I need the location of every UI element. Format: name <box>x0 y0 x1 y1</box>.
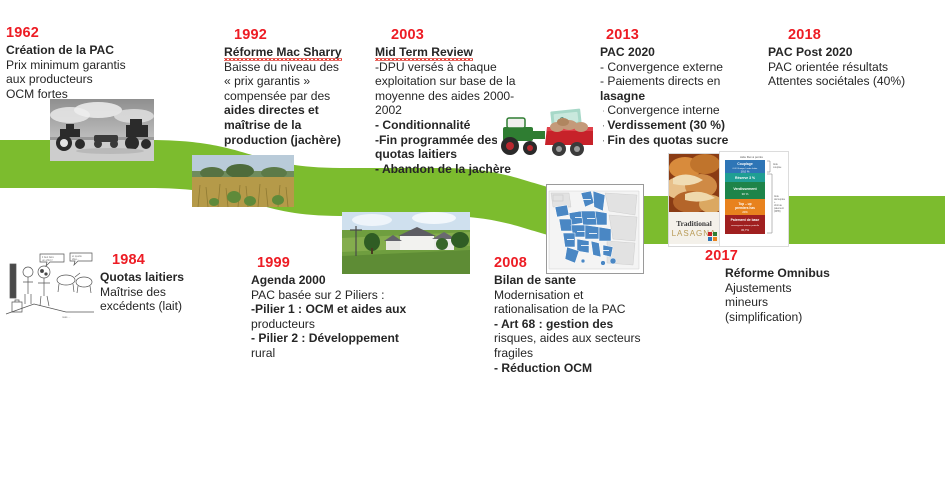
event-text-1999: Agenda 2000 PAC basée sur 2 Piliers : -P… <box>251 273 416 361</box>
event-block-2018: 2018 PAC Post 2020 PAC orientée résultat… <box>768 27 928 89</box>
event-line: Prix minimum garantis <box>6 58 156 73</box>
event-line: compensée par des <box>224 89 374 104</box>
event-line: PAC basée sur 2 Piliers : <box>251 288 416 303</box>
event-line: exploitation sur base de la <box>375 74 540 89</box>
event-line: Ajustements <box>725 281 855 296</box>
event-line: -DPU versés à chaque <box>375 60 540 75</box>
event-line: risques, aides aux secteurs <box>494 331 644 346</box>
event-heading-1992: Réforme Mac Sharry <box>224 45 374 60</box>
event-line: - Pilier 2 : Développement <box>251 331 416 346</box>
svg-text:Aide filet à points: Aide filet à points <box>740 155 763 159</box>
event-line: (simplification) <box>725 310 855 325</box>
event-text-2008: Bilan de sante Modernisation et rational… <box>494 273 644 375</box>
svg-text:30 %: 30 % <box>742 192 749 196</box>
direct-payments-lasagne-diagram: Aide filet à points Couplage 0-8 / Europ… <box>719 151 789 247</box>
event-line: rural <box>251 346 416 361</box>
event-line: producteurs <box>251 317 416 332</box>
event-line: Baisse du niveau des <box>224 60 374 75</box>
event-line: - Abandon de la jachère <box>375 162 540 177</box>
event-line: fragiles <box>494 346 644 361</box>
lasagna-box-title: Traditional <box>676 219 712 228</box>
event-line: mineurs <box>725 295 855 310</box>
countryside-farm-photo <box>342 212 470 274</box>
event-line: Modernisation et <box>494 288 644 303</box>
fallow-field-photo <box>192 155 294 207</box>
event-text-1984: Quotas laitiers Maîtrise des excédents (… <box>100 270 250 314</box>
event-text-2017: Réforme Omnibus Ajustements mineurs (sim… <box>705 266 855 324</box>
event-heading-2018: PAC Post 2020 <box>768 45 928 60</box>
vintage-tractors-photo <box>50 99 154 161</box>
event-year-2003: 2003 <box>375 27 540 44</box>
svg-text:couplée: couplée <box>773 166 782 169</box>
event-line: - Fin des quotas sucre <box>600 133 750 148</box>
event-heading-1984: Quotas laitiers <box>100 270 250 285</box>
svg-text:idée...: idée... <box>72 257 79 261</box>
event-year-2017: 2017 <box>705 248 855 265</box>
svg-text:Paiement de base: Paiement de base <box>731 218 760 222</box>
event-year-1984: 1984 <box>100 252 250 269</box>
tractor-money-trailer-photo: € <box>497 107 603 162</box>
event-block-2013: 2013 PAC 2020 - Convergence externe - Pa… <box>600 27 750 147</box>
event-heading-2003: Mid Term Review <box>375 45 540 60</box>
milk-quota-cartoon: il faut faireun effort ! et quelleidée..… <box>4 250 96 320</box>
lasagna-box-photo: Traditional LASAGNA <box>668 153 722 247</box>
event-line: moyenne des aides 2000- <box>375 89 540 104</box>
event-block-1992: 1992 Réforme Mac Sharry Baisse du niveau… <box>224 27 374 147</box>
event-block-2017: 2017 Réforme Omnibus Ajustements mineurs… <box>705 248 855 324</box>
timeline-infographic: il faut faireun effort ! et quelleidée..… <box>0 0 945 497</box>
europe-member-states-map <box>546 184 644 274</box>
event-line: aux producteurs <box>6 72 156 87</box>
event-text-2013: PAC 2020 - Convergence externe - Paiemen… <box>600 45 750 147</box>
event-text-2018: PAC Post 2020 PAC orientée résultats Att… <box>768 45 928 89</box>
svg-text:10,0 %: 10,0 % <box>741 169 750 173</box>
event-line: production (jachère) <box>224 133 374 148</box>
event-line: - Réduction OCM <box>494 361 644 376</box>
event-heading-2017: Réforme Omnibus <box>725 266 855 281</box>
event-line: « prix garantis » <box>224 74 374 89</box>
event-line: - Art 68 : gestion des <box>494 317 644 332</box>
event-line: - Convergence interne <box>600 103 750 118</box>
svg-text:découplée: découplée <box>774 198 786 201</box>
svg-text:Couplage: Couplage <box>737 162 753 166</box>
event-line: PAC orientée résultats <box>768 60 928 75</box>
event-line: maîtrise de la <box>224 118 374 133</box>
event-line: - Verdissement (30 %) <box>600 118 750 133</box>
event-heading-1999: Agenda 2000 <box>251 273 416 288</box>
event-block-1984: 1984 Quotas laitiers Maîtrise des excéde… <box>100 252 250 314</box>
svg-text:20%: 20% <box>742 210 748 214</box>
event-heading-1962: Création de la PAC <box>6 43 156 58</box>
event-year-1992: 1992 <box>224 27 374 44</box>
event-line: Maîtrise des <box>100 285 250 300</box>
event-text-1992: Réforme Mac Sharry Baisse du niveau des … <box>224 45 374 147</box>
event-heading-2008: Bilan de sante <box>494 273 644 288</box>
event-heading-2003-text: Mid Term Review <box>375 45 473 61</box>
event-block-1962: 1962 Création de la PAC Prix minimum gar… <box>6 25 156 101</box>
event-line: lasagne <box>600 89 750 104</box>
svg-text:un effort !: un effort ! <box>42 258 53 262</box>
event-line: -Pilier 1 : OCM et aides aux <box>251 302 416 317</box>
svg-text:Verdissement: Verdissement <box>733 187 757 191</box>
svg-text:Réserve 3 %: Réserve 3 % <box>735 176 755 180</box>
svg-text:convergence interne partielle: convergence interne partielle <box>731 224 760 227</box>
event-line: - Convergence externe <box>600 60 750 75</box>
event-heading-1992-text: Réforme Mac Sharry <box>224 45 342 61</box>
event-line: aides directes et <box>224 103 374 118</box>
event-year-2013: 2013 <box>600 27 750 44</box>
event-line: - Paiements directs en <box>600 74 750 89</box>
svg-text:30,7%: 30,7% <box>741 228 749 232</box>
event-year-1962: 1962 <box>6 25 156 42</box>
svg-text:(DPB): (DPB) <box>774 210 781 213</box>
event-text-1962: Création de la PAC Prix minimum garantis… <box>6 43 156 101</box>
svg-text:mais ...: mais ... <box>62 315 71 319</box>
event-line: excédents (lait) <box>100 299 250 314</box>
event-heading-2013: PAC 2020 <box>600 45 750 60</box>
event-line: rationalisation de la PAC <box>494 302 644 317</box>
event-year-2018: 2018 <box>768 27 928 44</box>
event-line: Attentes sociétales (40%) <box>768 74 928 89</box>
